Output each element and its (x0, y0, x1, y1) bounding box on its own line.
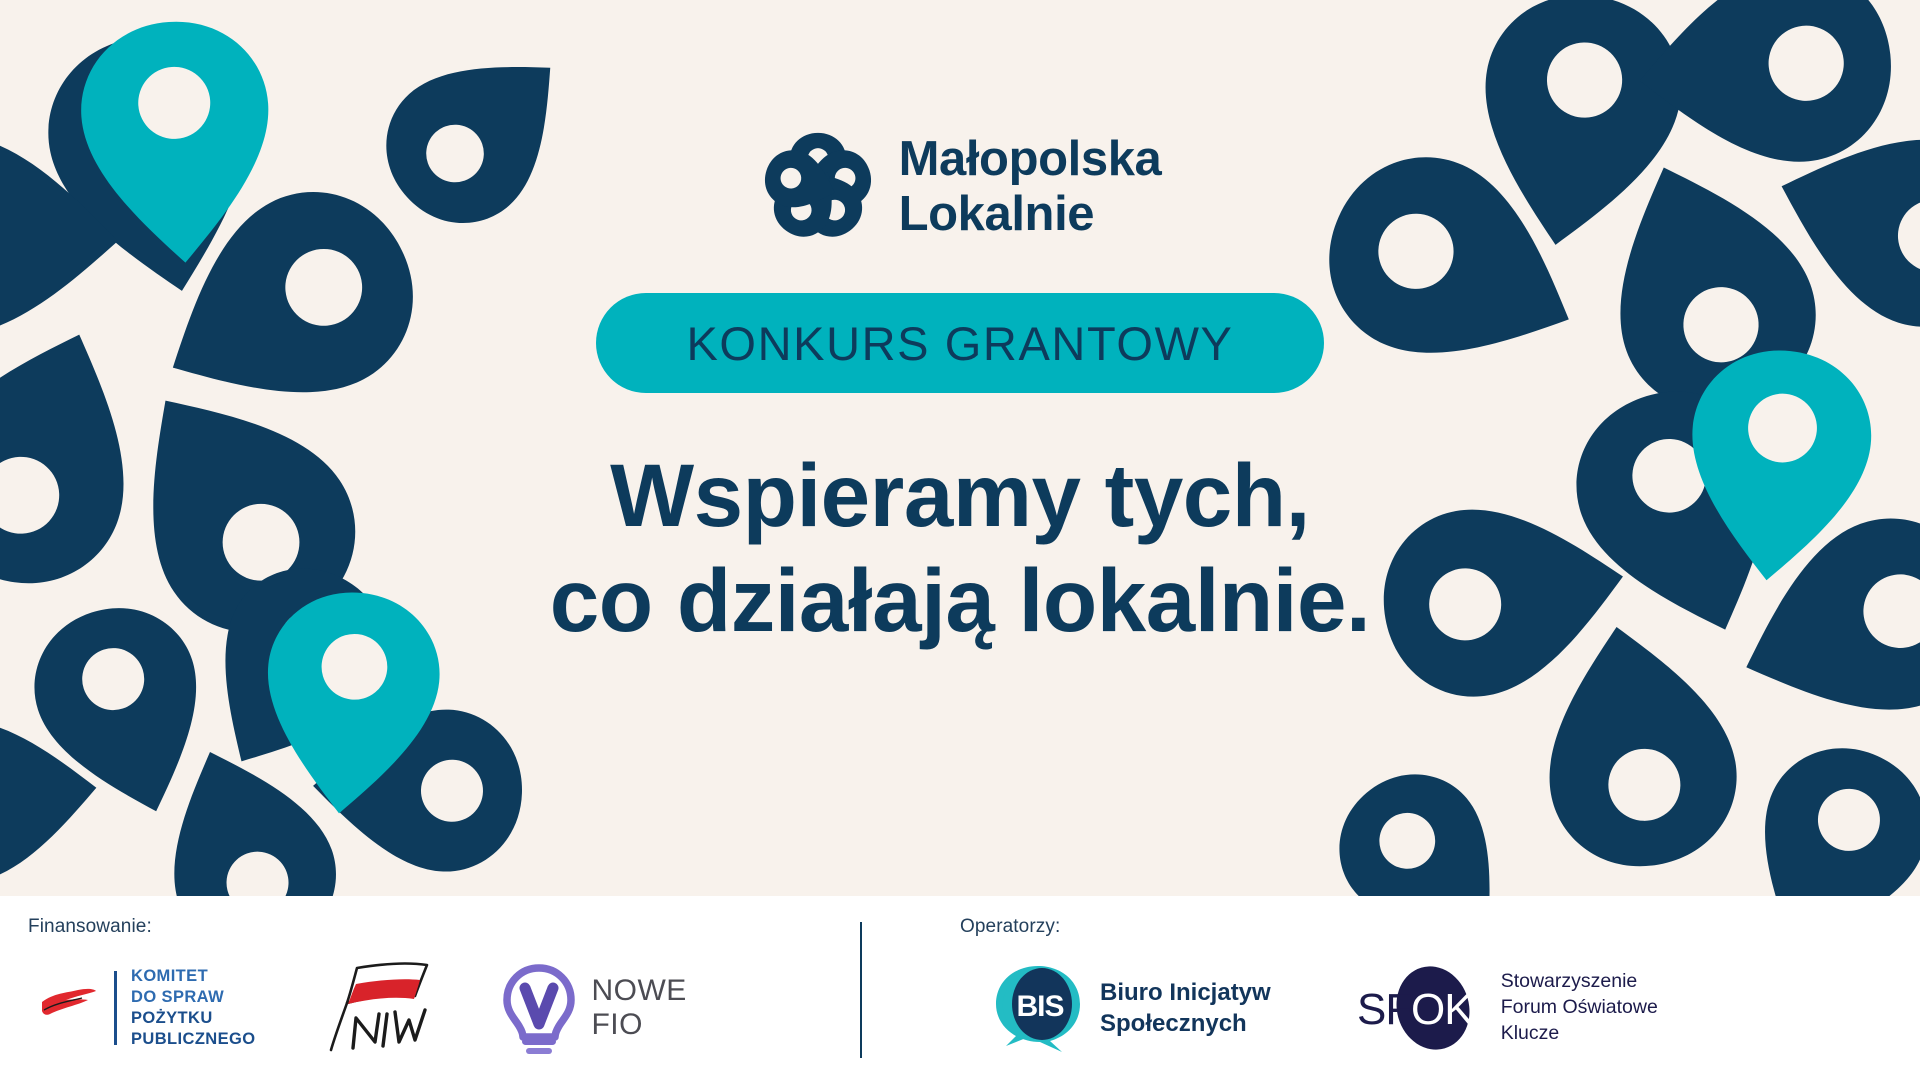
funding-label: Finansowanie: (28, 896, 860, 938)
operators-logo-row: BIS Biuro Inicjatyw Społecznych SF OK (960, 962, 1920, 1054)
headline-line-1: Wspieramy tych, (550, 443, 1371, 548)
komitet-line-2: DO SPRAW (131, 987, 255, 1008)
malopolska-lokalnie-flower-pin-mark (759, 128, 877, 246)
headline-line-2: co działają lokalnie. (550, 548, 1371, 653)
svg-text:SF: SF (1357, 985, 1411, 1034)
badge-label: KONKURS GRANTOWY (686, 316, 1233, 371)
sfok-line-1: Stowarzyszenie (1501, 969, 1658, 995)
fio-line-1: NOWE (591, 974, 686, 1008)
promotional-poster: Małopolska Lokalnie KONKURS GRANTOWY Wsp… (0, 0, 1920, 1080)
svg-text:BIS: BIS (1016, 990, 1063, 1023)
konkurs-grantowy-badge[interactable]: KONKURS GRANTOWY (596, 293, 1324, 393)
brand-lockup[interactable]: Małopolska Lokalnie (759, 128, 1162, 246)
sfok-text: Stowarzyszenie Forum Oświatowe Klucze (1501, 969, 1658, 1046)
niw-logo[interactable]: NIW (323, 962, 433, 1054)
bis-logo[interactable]: BIS Biuro Inicjatyw Społecznych (990, 962, 1271, 1054)
funding-section: Finansowanie: KOMITET DO SPRAW POŻYTKU P… (0, 896, 860, 1080)
operators-label: Operatorzy: (960, 896, 1920, 938)
bis-line-1: Biuro Inicjatyw (1100, 977, 1271, 1008)
sfok-line-2: Forum Oświatowe (1501, 995, 1658, 1021)
brand-name-line2: Lokalnie (899, 187, 1162, 242)
sfok-line-3: Klucze (1501, 1021, 1658, 1047)
nowe-fio-text: NOWE FIO (591, 974, 686, 1041)
brand-name-line1: Małopolska (899, 132, 1162, 187)
operators-section: Operatorzy: BIS Biuro Inicjatyw Społeczn… (860, 896, 1920, 1080)
komitet-logo-text: KOMITET DO SPRAW POŻYTKU PUBLICZNEGO (131, 966, 255, 1050)
sfok-mark: SF OK (1353, 962, 1487, 1054)
footer-bar: Finansowanie: KOMITET DO SPRAW POŻYTKU P… (0, 896, 1920, 1080)
komitet-line-4: PUBLICZNEGO (131, 1029, 255, 1050)
komitet-do-spraw-pozytku-publicznego-logo[interactable]: KOMITET DO SPRAW POŻYTKU PUBLICZNEGO (36, 966, 255, 1050)
nowe-fio-logo[interactable]: NOWE FIO (501, 962, 686, 1054)
svg-text:OK: OK (1411, 985, 1473, 1034)
komitet-line-1: KOMITET (131, 966, 255, 987)
hero-area: Małopolska Lokalnie KONKURS GRANTOWY Wsp… (0, 0, 1920, 896)
sfok-logo[interactable]: SF OK Stowarzyszenie Forum Oświatowe Klu… (1353, 962, 1658, 1054)
funding-logo-row: KOMITET DO SPRAW POŻYTKU PUBLICZNEGO (28, 962, 860, 1054)
bis-line-2: Społecznych (1100, 1008, 1271, 1039)
center-content: Małopolska Lokalnie KONKURS GRANTOWY Wsp… (0, 0, 1920, 653)
page-title: Wspieramy tych, co działają lokalnie. (550, 443, 1371, 653)
fio-line-2: FIO (591, 1008, 686, 1042)
bis-text: Biuro Inicjatyw Społecznych (1100, 977, 1271, 1039)
komitet-line-3: POŻYTKU (131, 1008, 255, 1029)
bis-speech-bubble-icon: BIS (990, 962, 1086, 1054)
brand-wordmark: Małopolska Lokalnie (899, 132, 1162, 242)
niw-flag-mark (323, 962, 433, 1054)
komitet-logo-rule (114, 971, 117, 1045)
polish-flag-swoosh-icon (36, 980, 100, 1036)
lightbulb-icon (501, 962, 577, 1054)
